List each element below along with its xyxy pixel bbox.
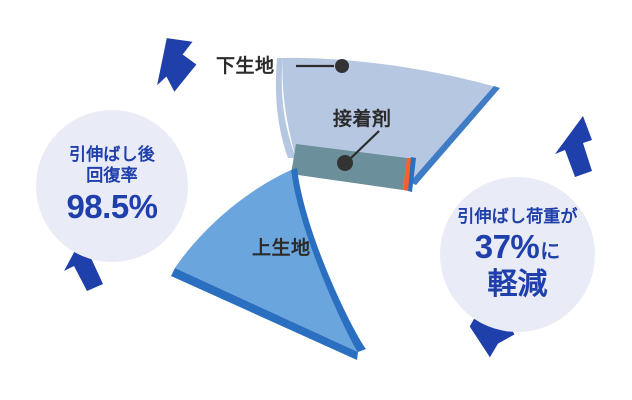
- recovery-rate-line2: 回復率: [86, 166, 138, 186]
- lower-fabric-label: 下生地: [216, 51, 275, 78]
- lower-fabric-leader-dot: [335, 59, 349, 73]
- recovery-rate-badge: 引伸ばし後 回復率 98.5%: [36, 110, 188, 262]
- adhesive-leader-dot: [337, 155, 353, 171]
- upper-fabric-shape: [175, 170, 358, 352]
- load-reduction-line3: 軽減: [488, 267, 548, 302]
- arrow-top-left: [157, 38, 200, 95]
- load-reduction-badge: 引伸ばし荷重が 37% に 軽減: [440, 177, 595, 332]
- upper-fabric-label: 上生地: [252, 233, 311, 260]
- illustration-canvas: 引伸ばし後 回復率 98.5% 引伸ばし荷重が 37% に 軽減 下生地 接着剤…: [0, 0, 632, 400]
- load-reduction-line1: 引伸ばし荷重が: [457, 207, 577, 227]
- recovery-rate-line1: 引伸ばし後: [69, 145, 155, 165]
- load-reduction-value-suffix: に: [540, 241, 560, 265]
- load-reduction-value: 37%: [475, 228, 540, 267]
- recovery-rate-value: 98.5%: [66, 188, 157, 227]
- load-reduction-value-row: 37% に: [475, 228, 561, 267]
- adhesive-label: 接着剤: [333, 104, 392, 131]
- arrow-top-right: [555, 116, 592, 177]
